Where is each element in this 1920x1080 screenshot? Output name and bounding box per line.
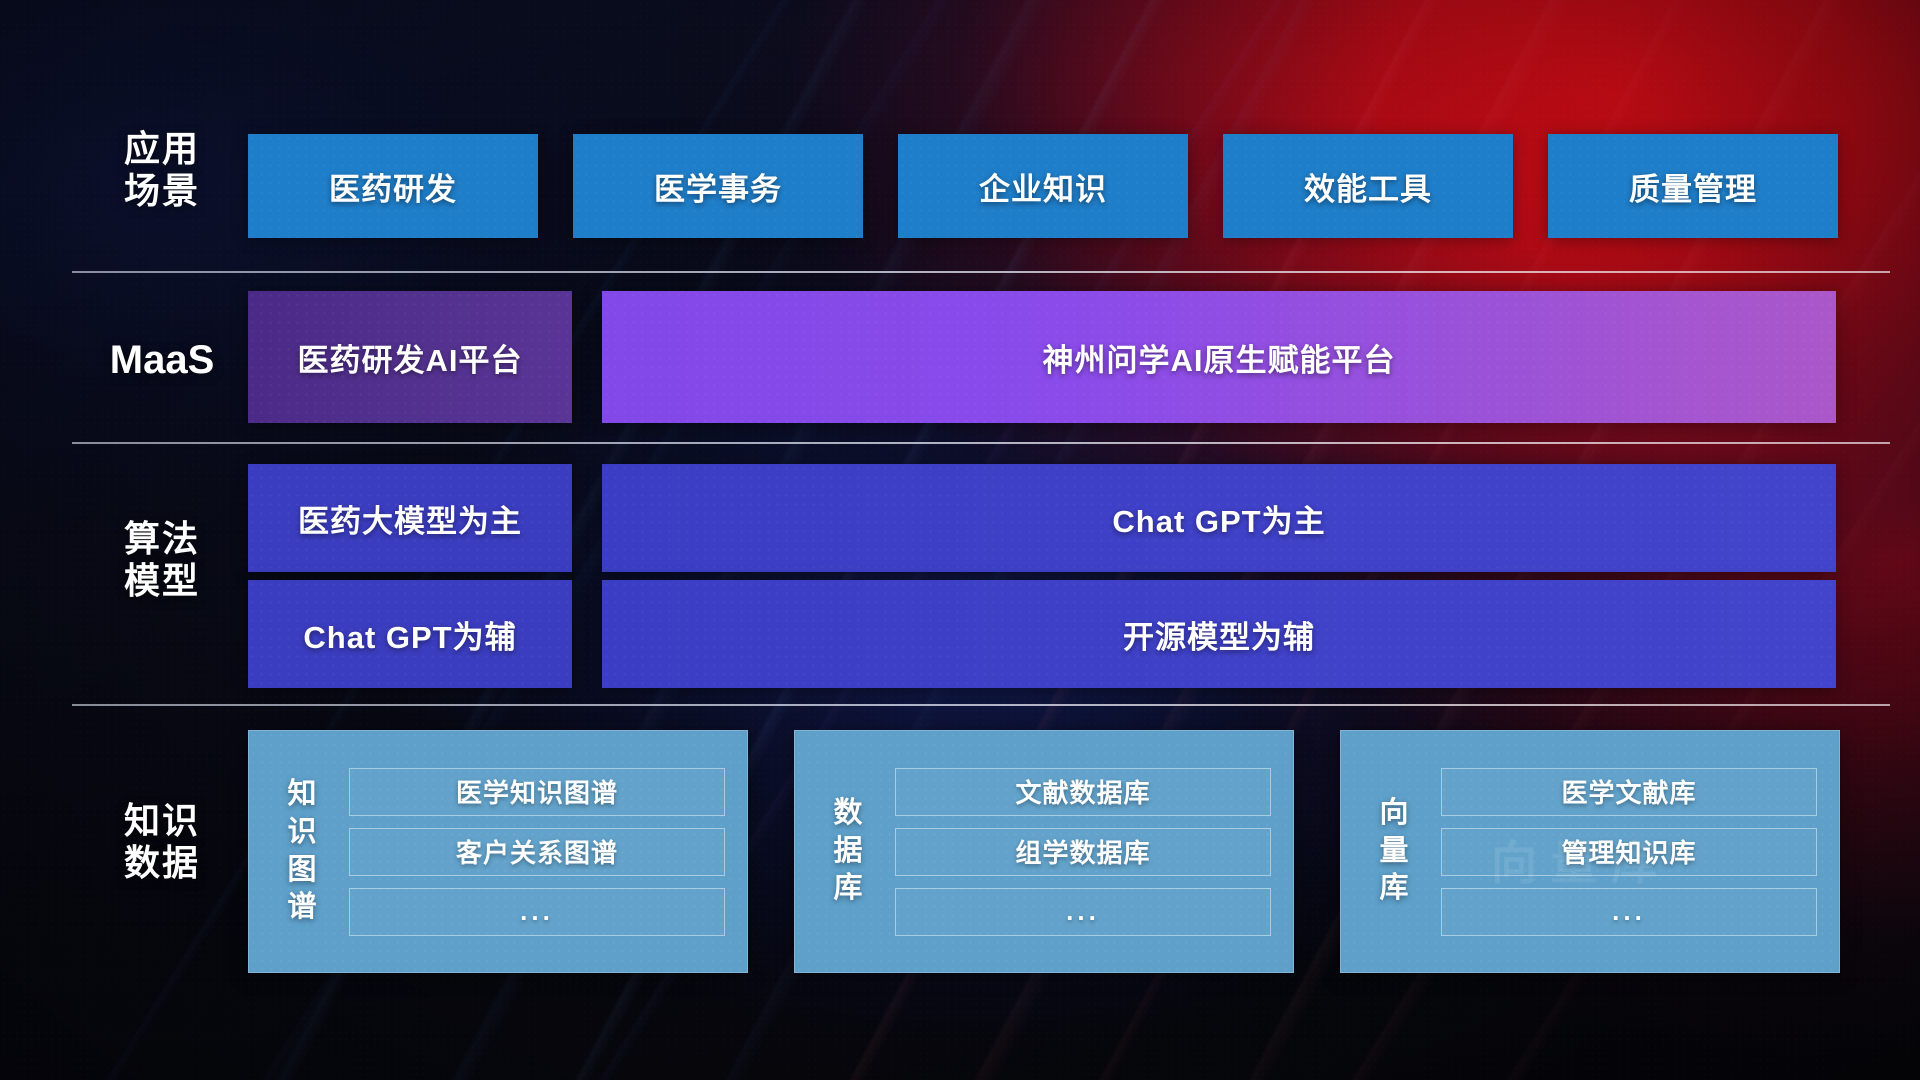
knowledge-group-1-title: 数据库 (823, 795, 873, 908)
row-label-knowledge: 知识 数据 (72, 800, 252, 885)
knowledge-item[interactable]: 医学知识图谱 (349, 768, 725, 816)
row-label-algorithm: 算法 模型 (72, 518, 252, 603)
knowledge-group-0-title: 知识图谱 (277, 776, 327, 927)
knowledge-item-more[interactable]: ... (1441, 888, 1817, 936)
maas-card-right-label: 神州问学AI原生赋能平台 (1043, 335, 1396, 380)
app-card-1-label: 医学事务 (654, 164, 782, 209)
algorithm-card-1[interactable]: Chat GPT为主 (602, 464, 1836, 572)
knowledge-group-2-items: 医学文献库 管理知识库 ... (1433, 750, 1839, 954)
knowledge-group-1-items: 文献数据库 组学数据库 ... (887, 750, 1293, 954)
app-card-4-label: 质量管理 (1629, 164, 1757, 209)
knowledge-item[interactable]: 医学文献库 (1441, 768, 1817, 816)
knowledge-item[interactable]: 文献数据库 (895, 768, 1271, 816)
maas-card-right[interactable]: 神州问学AI原生赋能平台 (602, 291, 1836, 423)
algorithm-card-0[interactable]: 医药大模型为主 (248, 464, 572, 572)
maas-card-left[interactable]: 医药研发AI平台 (248, 291, 572, 423)
divider-maas-algorithm (72, 442, 1890, 444)
divider-application-maas (72, 271, 1890, 273)
knowledge-item-more[interactable]: ... (349, 888, 725, 936)
app-card-1[interactable]: 医学事务 (573, 134, 863, 238)
knowledge-group-vector-store[interactable]: 向量库 向量库 医学文献库 管理知识库 ... (1340, 730, 1840, 973)
algorithm-card-3[interactable]: 开源模型为辅 (602, 580, 1836, 688)
algorithm-card-3-label: 开源模型为辅 (1123, 612, 1315, 657)
knowledge-item[interactable]: 组学数据库 (895, 828, 1271, 876)
divider-algorithm-knowledge (72, 704, 1890, 706)
slide-canvas: 应用 场景 医药研发 医学事务 企业知识 效能工具 质量管理 MaaS 医药研发… (0, 0, 1920, 1080)
app-card-3-label: 效能工具 (1304, 164, 1432, 209)
app-card-2-label: 企业知识 (979, 164, 1107, 209)
app-card-3[interactable]: 效能工具 (1223, 134, 1513, 238)
knowledge-group-knowledge-graph[interactable]: 知识图谱 医学知识图谱 客户关系图谱 ... (248, 730, 748, 973)
knowledge-group-database[interactable]: 数据库 文献数据库 组学数据库 ... (794, 730, 1294, 973)
algorithm-card-0-label: 医药大模型为主 (298, 496, 522, 541)
knowledge-group-0-items: 医学知识图谱 客户关系图谱 ... (341, 750, 747, 954)
app-card-2[interactable]: 企业知识 (898, 134, 1188, 238)
algorithm-card-2[interactable]: Chat GPT为辅 (248, 580, 572, 688)
maas-card-left-label: 医药研发AI平台 (298, 335, 523, 380)
app-card-0-label: 医药研发 (329, 164, 457, 209)
row-label-application: 应用 场景 (72, 128, 252, 213)
algorithm-card-2-label: Chat GPT为辅 (303, 612, 516, 657)
app-card-0[interactable]: 医药研发 (248, 134, 538, 238)
knowledge-item-more[interactable]: ... (895, 888, 1271, 936)
knowledge-item[interactable]: 管理知识库 (1441, 828, 1817, 876)
knowledge-group-2-title: 向量库 (1369, 795, 1419, 908)
algorithm-card-1-label: Chat GPT为主 (1112, 496, 1325, 541)
row-label-maas: MaaS (72, 337, 252, 384)
app-card-4[interactable]: 质量管理 (1548, 134, 1838, 238)
knowledge-item[interactable]: 客户关系图谱 (349, 828, 725, 876)
